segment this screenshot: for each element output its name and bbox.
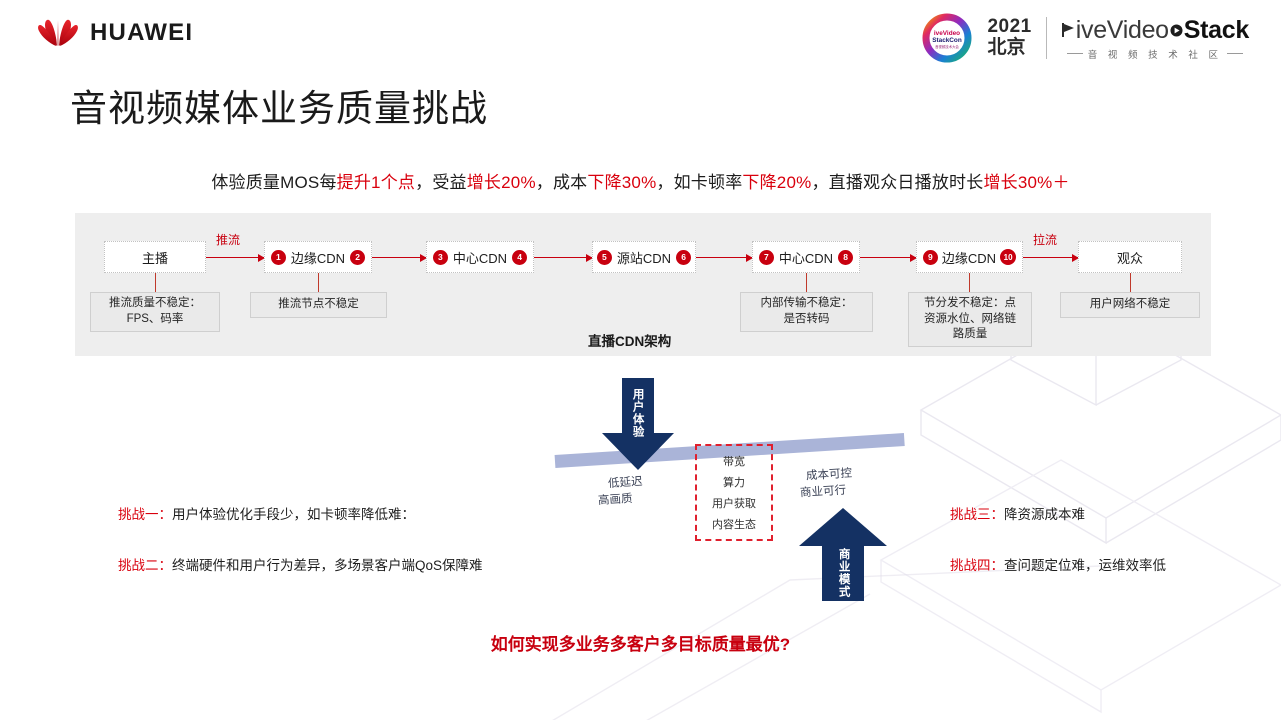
node-center-cdn-out[interactable]: 7 中心CDN 8	[752, 241, 860, 273]
label-low-latency: 低延迟	[608, 473, 643, 491]
subtitle-highlight-3: 下降30%	[587, 173, 656, 192]
factor-user-acquisition: 用户获取	[712, 495, 756, 511]
node-badge-1: 1	[271, 250, 286, 265]
label-business-viable: 商业可行	[800, 482, 847, 501]
subtitle-part-4: ，如卡顿率	[656, 173, 742, 192]
node-badge-4: 4	[512, 250, 527, 265]
svg-text:音视频技术大会: 音视频技术大会	[936, 44, 960, 49]
lvs-subtitle: 音 视 频 技 术 社 区	[1067, 47, 1243, 61]
connector-3	[534, 257, 592, 258]
stem-2	[318, 273, 319, 292]
play-dot-icon	[1170, 24, 1183, 37]
play-flag-icon	[1061, 22, 1075, 38]
arrow-user-experience: 用户体验	[600, 378, 676, 471]
node-center-cdn-in[interactable]: 3 中心CDN 4	[426, 241, 534, 273]
subtitle-part-1: 体验质量MOS每	[211, 173, 336, 192]
livevideostack-wordmark: iveVideo Stack	[1061, 16, 1249, 45]
lvs-subtitle-text: 音 视 频 技 术 社 区	[1088, 47, 1222, 61]
event-year: 2021	[987, 17, 1031, 37]
node-badge-2: 2	[350, 250, 365, 265]
stem-5	[1130, 273, 1131, 292]
node-edge-cdn-out[interactable]: 9 边缘CDN 10	[916, 241, 1023, 273]
node-viewer-label: 观众	[1117, 248, 1143, 267]
challenge-two: 挑战二：终端硬件和用户行为差异，多场景客户端QoS保障难	[118, 554, 483, 574]
node-badge-9: 9	[923, 250, 938, 265]
connector-5	[860, 257, 916, 258]
slide-root: HUAWEI iveVideo	[0, 0, 1281, 720]
stem-4	[969, 273, 970, 292]
subtitle-highlight-2: 增长20%	[467, 173, 536, 192]
node-badge-6: 6	[676, 250, 691, 265]
header-divider	[1046, 17, 1047, 59]
issue-box-internal-transfer: 内部传输不稳定： 是否转码	[740, 292, 873, 332]
stem-1	[155, 273, 156, 292]
page-title: 音视频媒体业务质量挑战	[70, 78, 488, 132]
huawei-wordmark: HUAWEI	[90, 19, 193, 47]
node-edge-cdn-in[interactable]: 1 边缘CDN 2	[264, 241, 372, 273]
event-year-city: 2021 北京	[987, 17, 1031, 59]
node-badge-10: 10	[1000, 249, 1016, 265]
node-badge-3: 3	[433, 250, 448, 265]
challenge-two-key: 挑战二：	[118, 558, 172, 573]
connector-4	[696, 257, 752, 258]
subtitle-line: 体验质量MOS每提升1个点，受益增长20%，成本下降30%，如卡顿率下降20%，…	[0, 168, 1281, 193]
node-origin-cdn[interactable]: 5 源站CDN 6	[592, 241, 696, 273]
node-edge-cdn-in-label: 边缘CDN	[291, 248, 345, 267]
node-anchor-label: 主播	[142, 248, 168, 267]
issue-box-node-distribution: 节分发不稳定：点 资源水位、网络链 路质量	[908, 292, 1032, 347]
flow-label-push: 推流	[216, 231, 240, 248]
node-viewer[interactable]: 观众	[1078, 241, 1182, 273]
huawei-flower-icon	[36, 18, 80, 48]
lvs-bold-text: Stack	[1184, 16, 1249, 45]
node-badge-8: 8	[838, 250, 853, 265]
livevideostack-logo: iveVideo Stack 音 视 频 技 术 社 区	[1061, 16, 1249, 61]
stem-3	[806, 273, 807, 292]
arrow-down-label: 用户体验	[631, 388, 644, 438]
subtitle-highlight-4: 下降20%	[742, 173, 811, 192]
challenge-four-key: 挑战四：	[950, 558, 1004, 573]
issue-box-push-node: 推流节点不稳定	[250, 292, 387, 318]
resource-factors-box: 带宽 算力 用户获取 内容生态	[695, 444, 773, 541]
issue-text-5: 用户网络不稳定	[1090, 297, 1171, 313]
issue-box-user-network: 用户网络不稳定	[1060, 292, 1200, 318]
factor-compute: 算力	[723, 474, 745, 490]
event-logos: iveVideo StackCon 音视频技术大会 2021 北京 iveVid…	[921, 12, 1249, 64]
node-center-cdn-out-label: 中心CDN	[779, 248, 833, 267]
arrow-up-label: 商业模式	[837, 548, 850, 598]
svg-text:iveVideo: iveVideo	[934, 30, 960, 37]
svg-text:StackCon: StackCon	[933, 37, 963, 44]
subtitle-highlight-5: 增长30%＋	[983, 173, 1069, 192]
arrow-business-model: 商业模式	[798, 508, 888, 601]
challenge-four: 挑战四：查问题定位难，运维效率低	[950, 554, 1166, 574]
challenge-three-text: 降资源成本难	[1004, 507, 1085, 522]
factor-content-ecosystem: 内容生态	[712, 516, 756, 532]
challenge-three-key: 挑战三：	[950, 507, 1004, 522]
node-center-cdn-in-label: 中心CDN	[453, 248, 507, 267]
challenge-one-key: 挑战一：	[118, 507, 172, 522]
challenge-three: 挑战三：降资源成本难	[950, 503, 1085, 523]
connector-1	[206, 257, 264, 258]
subtitle-part-3: ，成本	[536, 173, 588, 192]
node-origin-cdn-label: 源站CDN	[617, 248, 671, 267]
challenge-two-text: 终端硬件和用户行为差异，多场景客户端QoS保障难	[172, 558, 483, 573]
connector-6	[1023, 257, 1078, 258]
issue-text-2: 推流节点不稳定	[278, 297, 359, 313]
lvs-light-text: iveVideo	[1076, 16, 1169, 45]
subtitle-part-2: ，受益	[415, 173, 467, 192]
subtitle-part-5: ，直播观众日播放时长	[811, 173, 983, 192]
cdn-panel-caption: 直播CDN架构	[588, 330, 671, 350]
event-city: 北京	[987, 37, 1031, 59]
issue-text-3: 内部传输不稳定： 是否转码	[761, 296, 853, 327]
livevideostackcon-badge-icon: iveVideo StackCon 音视频技术大会	[921, 12, 973, 64]
issue-text-4: 节分发不稳定：点 资源水位、网络链 路质量	[924, 296, 1016, 343]
challenge-one: 挑战一：用户体验优化手段少，如卡顿率降低难：	[118, 503, 415, 523]
node-badge-5: 5	[597, 250, 612, 265]
node-badge-7: 7	[759, 250, 774, 265]
factor-bandwidth: 带宽	[723, 453, 745, 469]
challenge-one-text: 用户体验优化手段少，如卡顿率降低难：	[172, 507, 415, 522]
slide-header: HUAWEI iveVideo	[0, 0, 1281, 68]
label-high-quality: 高画质	[598, 490, 633, 508]
flow-label-pull: 拉流	[1033, 231, 1057, 248]
connector-2	[372, 257, 426, 258]
issue-box-push-quality: 推流质量不稳定： FPS、码率	[90, 292, 220, 332]
challenge-four-text: 查问题定位难，运维效率低	[1004, 558, 1166, 573]
subtitle-highlight-1: 提升1个点	[337, 173, 415, 192]
node-edge-cdn-out-label: 边缘CDN	[942, 248, 996, 267]
node-anchor[interactable]: 主播	[104, 241, 206, 273]
huawei-logo: HUAWEI	[36, 18, 193, 48]
bottom-question: 如何实现多业务多客户多目标质量最优?	[0, 630, 1281, 655]
issue-text-1: 推流质量不稳定： FPS、码率	[109, 296, 201, 327]
